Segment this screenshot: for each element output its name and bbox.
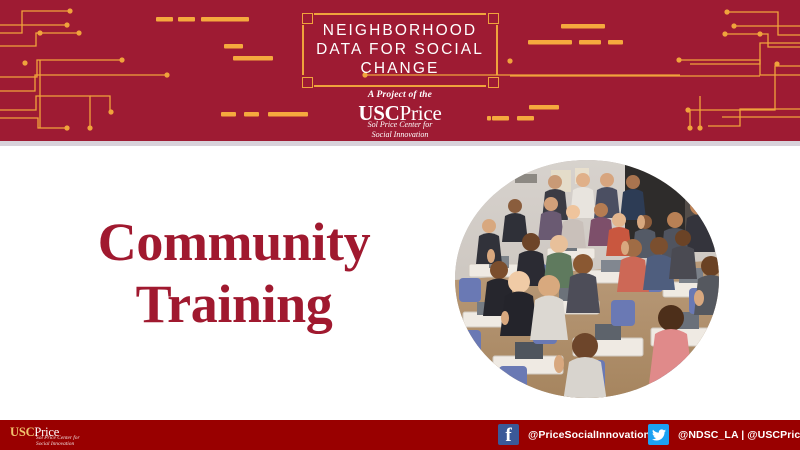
- page-title-line-1: Community: [34, 211, 434, 273]
- slide-body: Community Training: [0, 146, 800, 418]
- facebook-handle: @PriceSocialInnovation: [528, 429, 650, 441]
- header-title: NEIGHBORHOOD DATA FOR SOCIAL CHANGE: [302, 21, 498, 78]
- footer-logo-subtitle-line-2: Social Innovation: [36, 441, 80, 447]
- frame-bottom-line: [314, 85, 486, 87]
- classroom-photo: [455, 160, 719, 398]
- footer-logo-subtitle: Sol Price Center for Social Innovation: [36, 435, 80, 447]
- header-title-line-2: DATA FOR SOCIAL: [302, 40, 498, 59]
- page-title-line-2: Training: [34, 273, 434, 335]
- header-title-line-3: CHANGE: [302, 59, 498, 78]
- twitter-bird-glyph: [652, 429, 666, 441]
- facebook-f-glyph: f: [505, 426, 511, 445]
- facebook-social-link[interactable]: f @PriceSocialInnovation: [498, 424, 650, 445]
- footer-usc-wordmark: USC: [10, 425, 34, 439]
- frame-corner-bottom-left: [302, 77, 313, 88]
- usc-price-subtitle: Sol Price Center for Social Innovation: [302, 120, 498, 139]
- twitter-social-link[interactable]: @NDSC_LA | @USCPriceCSI: [648, 424, 800, 445]
- header-title-line-1: NEIGHBORHOOD: [302, 21, 498, 40]
- presentation-slide: NEIGHBORHOOD DATA FOR SOCIAL CHANGE A Pr…: [0, 0, 800, 450]
- header-banner: NEIGHBORHOOD DATA FOR SOCIAL CHANGE A Pr…: [0, 0, 800, 141]
- frame-corner-bottom-right: [488, 77, 499, 88]
- frame-top-line: [314, 13, 486, 15]
- usc-price-subtitle-line-2: Social Innovation: [302, 130, 498, 140]
- usc-price-subtitle-line-1: Sol Price Center for: [302, 120, 498, 130]
- title-frame: NEIGHBORHOOD DATA FOR SOCIAL CHANGE: [302, 13, 498, 87]
- facebook-icon[interactable]: f: [498, 424, 519, 445]
- twitter-handle: @NDSC_LA | @USCPriceCSI: [678, 429, 800, 441]
- page-title: Community Training: [34, 211, 434, 335]
- twitter-icon[interactable]: [648, 424, 669, 445]
- project-of-label: A Project of the: [302, 90, 498, 100]
